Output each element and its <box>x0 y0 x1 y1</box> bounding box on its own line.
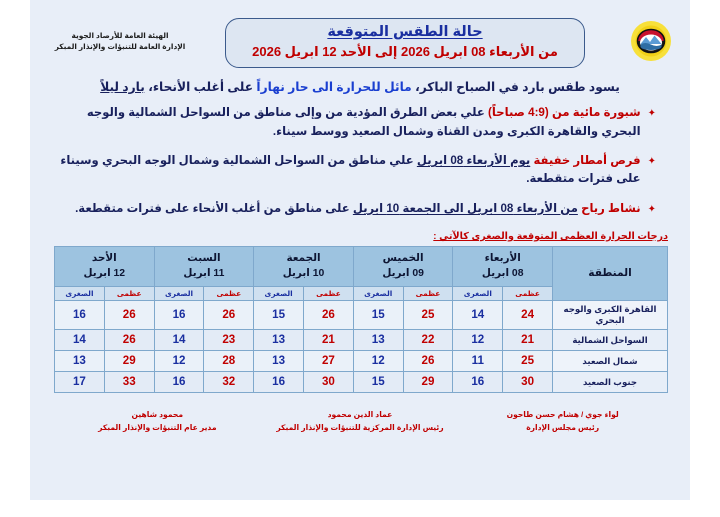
subheader-max-1: عظمى <box>403 287 453 301</box>
diamond-bullet-icon: ✦ <box>648 200 656 218</box>
cell-min-r1-d3: 14 <box>154 330 204 351</box>
day-name-4: الأحد <box>92 253 117 264</box>
cell-max-r1-d0: 21 <box>503 330 553 351</box>
row-region-2: شمال الصعيد <box>553 351 668 372</box>
signature-role-1: رئيس الإدارة المركزية للتنبؤات والإنذار … <box>259 422 462 435</box>
bullet-2-red: فرص أمطار خفيفة <box>530 154 640 167</box>
day-date-1: 09 ابريل <box>354 266 453 281</box>
forecast-document: حالة الطقس المتوقعة من الأربعاء 08 ابريل… <box>30 0 690 500</box>
cell-min-r0-d2: 15 <box>254 301 304 330</box>
table-row: السواحل الشمالية 21 12 22 13 21 13 23 14… <box>55 330 668 351</box>
cell-min-r1-d1: 13 <box>353 330 403 351</box>
cell-max-r3-d0: 30 <box>503 372 553 393</box>
subheader-max-4: عظمى <box>104 287 154 301</box>
cell-max-r0-d1: 25 <box>403 301 453 330</box>
table-caption: درجات الحرارة العظمى المتوقعة والصغرى كا… <box>30 229 690 246</box>
cell-min-r2-d4: 13 <box>55 351 105 372</box>
weather-authority-logo <box>628 20 674 62</box>
bullet-text: شبورة مائية من (4:9 صباحاً) علي بعض الطر… <box>58 104 641 141</box>
day-name-0: الأربعاء <box>485 253 521 264</box>
day-name-3: السبت <box>187 253 220 264</box>
subheader-min-3: الصغرى <box>154 287 204 301</box>
row-region-3: جنوب الصعيد <box>553 372 668 393</box>
cell-min-r0-d3: 16 <box>154 301 204 330</box>
cell-min-r3-d3: 16 <box>154 372 204 393</box>
signature-footer: لواء جوي / هشام حسن طاحون رئيس مجلس الإد… <box>30 393 690 435</box>
bullet-text: نشاط رياح من الأربعاء 08 ابريل الى الجمع… <box>58 200 641 218</box>
cell-max-r1-d3: 23 <box>204 330 254 351</box>
day-date-4: 12 ابريل <box>55 266 154 281</box>
intro-highlight: مائل للحرارة الى حار نهاراً <box>256 80 411 94</box>
bullet-2-date: يوم الأربعاء 08 ابريل <box>417 154 530 167</box>
row-region-0: القاهرة الكبرى والوجه البحري <box>553 301 668 330</box>
cell-max-r0-d2: 26 <box>304 301 354 330</box>
cell-min-r3-d2: 16 <box>254 372 304 393</box>
list-item: ✦ فرص أمطار خفيفة يوم الأربعاء 08 ابريل … <box>58 152 656 189</box>
cell-min-r0-d1: 15 <box>353 301 403 330</box>
department-name: الإدارة العامة للتنبؤات والإنذار المبكر <box>50 41 190 52</box>
signature-name-2: محمود شاهين <box>56 409 259 422</box>
column-header-day-1: الخميس 09 ابريل <box>353 246 453 286</box>
cell-min-r1-d0: 12 <box>453 330 503 351</box>
forecast-bullet-list: ✦ شبورة مائية من (4:9 صباحاً) علي بعض ال… <box>30 96 690 218</box>
diamond-bullet-icon: ✦ <box>648 104 656 122</box>
column-header-day-0: الأربعاء 08 ابريل <box>453 246 553 286</box>
bullet-1-red: شبورة مائية من (4:9 صباحاً) <box>488 106 641 119</box>
cell-max-r3-d3: 32 <box>204 372 254 393</box>
table-header-row-days: المنطقة الأربعاء 08 ابريل الخميس 09 ابري… <box>55 246 668 286</box>
temperature-forecast-table: المنطقة الأربعاء 08 ابريل الخميس 09 ابري… <box>54 246 668 393</box>
column-header-day-4: الأحد 12 ابريل <box>55 246 155 286</box>
table-row: جنوب الصعيد 30 16 29 15 30 16 32 16 33 1… <box>55 372 668 393</box>
organization-name: الهيئة العامة للأرصاد الجوية <box>50 30 190 41</box>
cell-min-r1-d4: 14 <box>55 330 105 351</box>
bullet-3-date: من الأربعاء 08 ابريل الى الجمعة 10 ابريل <box>353 202 578 215</box>
logo-container <box>620 14 682 62</box>
cell-max-r0-d4: 26 <box>104 301 154 330</box>
row-region-1: السواحل الشمالية <box>553 330 668 351</box>
diamond-bullet-icon: ✦ <box>648 152 656 170</box>
signature-block-chairman: لواء جوي / هشام حسن طاحون رئيس مجلس الإد… <box>461 409 664 435</box>
cell-max-r1-d2: 21 <box>304 330 354 351</box>
cell-max-r3-d2: 30 <box>304 372 354 393</box>
table-row: القاهرة الكبرى والوجه البحري 24 14 25 15… <box>55 301 668 330</box>
organization-block: الهيئة العامة للأرصاد الجوية الإدارة الع… <box>50 14 190 53</box>
cell-max-r2-d0: 25 <box>503 351 553 372</box>
bullet-3-red: نشاط رياح <box>578 202 641 215</box>
cell-min-r2-d0: 11 <box>453 351 503 372</box>
cell-max-r0-d3: 26 <box>204 301 254 330</box>
column-header-day-2: الجمعة 10 ابريل <box>254 246 354 286</box>
logo-svg <box>628 20 674 62</box>
cell-min-r0-d0: 14 <box>453 301 503 330</box>
subheader-max-0: عظمى <box>503 287 553 301</box>
signature-role-2: مدير عام التنبؤات والإنذار المبكر <box>56 422 259 435</box>
day-date-3: 11 ابريل <box>155 266 254 281</box>
cell-min-r3-d1: 15 <box>353 372 403 393</box>
column-header-region: المنطقة <box>553 246 668 300</box>
subheader-max-3: عظمى <box>204 287 254 301</box>
intro-part-3: على أغلب الأنحاء، <box>145 80 257 94</box>
document-header: حالة الطقس المتوقعة من الأربعاء 08 ابريل… <box>30 0 690 72</box>
cell-max-r0-d0: 24 <box>503 301 553 330</box>
subheader-min-1: الصغرى <box>353 287 403 301</box>
signature-block-forecast-director: محمود شاهين مدير عام التنبؤات والإنذار ا… <box>56 409 259 435</box>
cell-min-r3-d4: 17 <box>55 372 105 393</box>
cell-min-r2-d2: 13 <box>254 351 304 372</box>
signature-role-0: رئيس مجلس الإدارة <box>461 422 664 435</box>
day-date-2: 10 ابريل <box>254 266 353 281</box>
cell-max-r3-d4: 33 <box>104 372 154 393</box>
column-header-day-3: السبت 11 ابريل <box>154 246 254 286</box>
subheader-min-0: الصغرى <box>453 287 503 301</box>
page-title: حالة الطقس المتوقعة <box>252 24 558 40</box>
intro-part-1: يسود طقس بارد في الصباح الباكر، <box>412 80 620 94</box>
subheader-max-2: عظمى <box>304 287 354 301</box>
cell-max-r1-d4: 26 <box>104 330 154 351</box>
table-container: المنطقة الأربعاء 08 ابريل الخميس 09 ابري… <box>30 246 690 393</box>
signature-name-1: عماد الدين محمود <box>259 409 462 422</box>
cell-max-r2-d2: 27 <box>304 351 354 372</box>
subheader-min-2: الصغرى <box>254 287 304 301</box>
cell-min-r1-d2: 13 <box>254 330 304 351</box>
signature-block-central-head: عماد الدين محمود رئيس الإدارة المركزية ل… <box>259 409 462 435</box>
day-date-0: 08 ابريل <box>453 266 552 281</box>
bullet-text: فرص أمطار خفيفة يوم الأربعاء 08 ابريل عل… <box>58 152 641 189</box>
cell-min-r3-d0: 16 <box>453 372 503 393</box>
cell-min-r2-d1: 12 <box>353 351 403 372</box>
list-item: ✦ نشاط رياح من الأربعاء 08 ابريل الى الج… <box>58 200 656 218</box>
signature-name-0: لواء جوي / هشام حسن طاحون <box>461 409 664 422</box>
cell-max-r3-d1: 29 <box>403 372 453 393</box>
intro-part-4: بارد ليلاً <box>100 80 145 94</box>
cell-max-r2-d1: 26 <box>403 351 453 372</box>
cell-max-r1-d1: 22 <box>403 330 453 351</box>
date-range-subtitle: من الأربعاء 08 ابريل 2026 إلى الأحد 12 ا… <box>252 44 558 60</box>
bullet-3-navy: على مناطق من أغلب الأنحاء على فترات متقط… <box>75 202 353 215</box>
title-box: حالة الطقس المتوقعة من الأربعاء 08 ابريل… <box>225 18 585 68</box>
cell-max-r2-d4: 29 <box>104 351 154 372</box>
day-name-1: الخميس <box>383 253 424 264</box>
day-name-2: الجمعة <box>286 253 320 264</box>
list-item: ✦ شبورة مائية من (4:9 صباحاً) علي بعض ال… <box>58 104 656 141</box>
subheader-min-4: الصغرى <box>55 287 105 301</box>
cell-min-r2-d3: 12 <box>154 351 204 372</box>
cell-min-r0-d4: 16 <box>55 301 105 330</box>
cell-max-r2-d3: 28 <box>204 351 254 372</box>
table-row: شمال الصعيد 25 11 26 12 27 13 28 12 29 1… <box>55 351 668 372</box>
intro-paragraph: يسود طقس بارد في الصباح الباكر، مائل للح… <box>30 72 690 96</box>
